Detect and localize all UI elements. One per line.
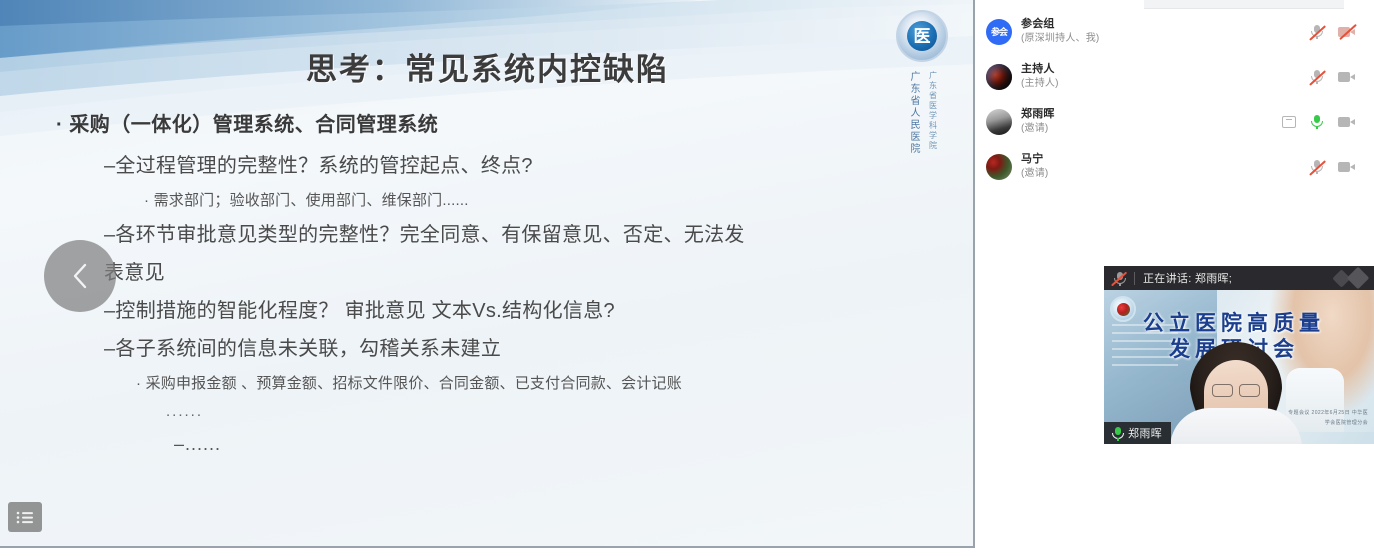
- participant-row[interactable]: 参会 参会组 (原深圳持人、我): [978, 9, 1374, 54]
- bullet-tail: –......: [174, 434, 936, 455]
- presentation-slide[interactable]: 医 广东省人民医院 广东省医学科学院 思考：常见系统内控缺陷 · 采购（一体化）…: [0, 0, 975, 548]
- app-watermark-icon: [1335, 270, 1366, 286]
- list-icon: [16, 510, 35, 525]
- participant-name: 郑雨晖: [1021, 108, 1055, 121]
- participant-status-icons: [1309, 25, 1356, 39]
- video-status-bar: 正在讲话: 郑雨晖;: [1104, 266, 1374, 290]
- video-side-text: 专题会议 2022年6月25日 中华医学会医院管理分会: [1284, 409, 1368, 428]
- bullet-l3-b-ellipsis: ......: [166, 403, 936, 420]
- microphone-muted-icon: [1112, 272, 1126, 285]
- slide-title: 思考：常见系统内控缺陷: [0, 44, 975, 89]
- video-frame: 公立医院高质量 发展研讨会 专题会议 2022年6月25日 中华医学会医院管理分…: [1104, 290, 1374, 444]
- participant-names: 郑雨晖 (邀请): [1021, 108, 1055, 134]
- participant-name: 参会组: [1021, 18, 1099, 31]
- participant-role: (邀请): [1021, 123, 1055, 135]
- microphone-active-icon: [1110, 427, 1123, 440]
- meeting-screen: 医 广东省人民医院 广东省医学科学院 思考：常见系统内控缺陷 · 采购（一体化）…: [0, 0, 1374, 556]
- avatar: [986, 154, 1012, 180]
- camera-muted-icon[interactable]: [1338, 26, 1356, 38]
- microphone-muted-icon[interactable]: [1309, 25, 1325, 39]
- participant-name: 主持人: [1021, 63, 1059, 76]
- speaker-name-label: 郑雨晖: [1104, 422, 1171, 444]
- participant-list[interactable]: 参会 参会组 (原深圳持人、我): [978, 9, 1374, 189]
- bullet-l2-a: –全过程管理的完整性？系统的管控起点、终点?: [104, 151, 936, 181]
- participant-status-icons: [1309, 70, 1356, 84]
- microphone-muted-icon[interactable]: [1309, 160, 1325, 174]
- participant-status-icons: [1282, 115, 1356, 129]
- bullet-level1: · 采购（一体化）管理系统、合同管理系统: [56, 108, 936, 137]
- participant-names: 主持人 (主持人): [1021, 63, 1059, 89]
- speaker-video-thumbnail[interactable]: 正在讲话: 郑雨晖; 公立医院高质量 发展研讨会 专题会议 2022年6月25日…: [1104, 266, 1374, 444]
- bullet-l3-b: · 采购申报金额 、预算金额、招标文件限价、合同金额、已支付合同款、会计记账: [136, 372, 936, 393]
- camera-off-icon[interactable]: [1338, 161, 1356, 173]
- bullet-l2-d: –各子系统间的信息未关联，勾稽关系未建立: [104, 334, 936, 364]
- screen-share-icon[interactable]: [1282, 116, 1296, 128]
- participant-names: 参会组 (原深圳持人、我): [1021, 18, 1099, 44]
- bullet-l2-c: –控制措施的智能化程度？ 审批意见 文本Vs.结构化信息?: [104, 296, 936, 326]
- glasses-icon: [1212, 384, 1260, 395]
- participant-name: 马宁: [1021, 153, 1048, 166]
- avatar: 参会: [986, 19, 1012, 45]
- camera-off-icon[interactable]: [1338, 116, 1356, 128]
- participant-row[interactable]: 郑雨晖 (邀请): [978, 99, 1374, 144]
- speaking-status-text: 正在讲话: 郑雨晖;: [1143, 270, 1232, 286]
- divider: [1134, 272, 1135, 285]
- participant-role: (原深圳持人、我): [1021, 33, 1099, 45]
- slide-list-button[interactable]: [8, 502, 42, 532]
- participant-role: (主持人): [1021, 78, 1059, 90]
- speaker-shoulders: [1170, 408, 1302, 444]
- participant-role: (邀请): [1021, 168, 1048, 180]
- conference-badge-icon: [1110, 296, 1136, 322]
- microphone-active-icon[interactable]: [1309, 115, 1325, 129]
- previous-slide-button[interactable]: [44, 240, 116, 312]
- bullet-l3-a: · 需求部门；验收部门、使用部门、维保部门......: [144, 189, 936, 210]
- slide-body: · 采购（一体化）管理系统、合同管理系统 –全过程管理的完整性？系统的管控起点、…: [56, 108, 936, 455]
- participant-names: 马宁 (邀请): [1021, 153, 1048, 179]
- side-panel: 参会 参会组 (原深圳持人、我): [978, 0, 1374, 556]
- screen-share-stage[interactable]: 医 广东省人民医院 广东省医学科学院 思考：常见系统内控缺陷 · 采购（一体化）…: [0, 0, 978, 556]
- chevron-left-icon: [67, 261, 93, 291]
- participant-row[interactable]: 主持人 (主持人): [978, 54, 1374, 99]
- panel-top-bar: [1144, 0, 1344, 9]
- bullet-l2-b: –各环节审批意见类型的完整性？完全同意、有保留意见、否定、无法发: [104, 220, 936, 250]
- participant-row[interactable]: 马宁 (邀请): [978, 144, 1374, 189]
- avatar: [986, 109, 1012, 135]
- microphone-muted-icon[interactable]: [1309, 70, 1325, 84]
- camera-off-icon[interactable]: [1338, 71, 1356, 83]
- avatar: [986, 64, 1012, 90]
- bullet-l2-b-continued: 表意见: [104, 258, 936, 288]
- participant-status-icons: [1309, 160, 1356, 174]
- speaker-name: 郑雨晖: [1128, 425, 1162, 441]
